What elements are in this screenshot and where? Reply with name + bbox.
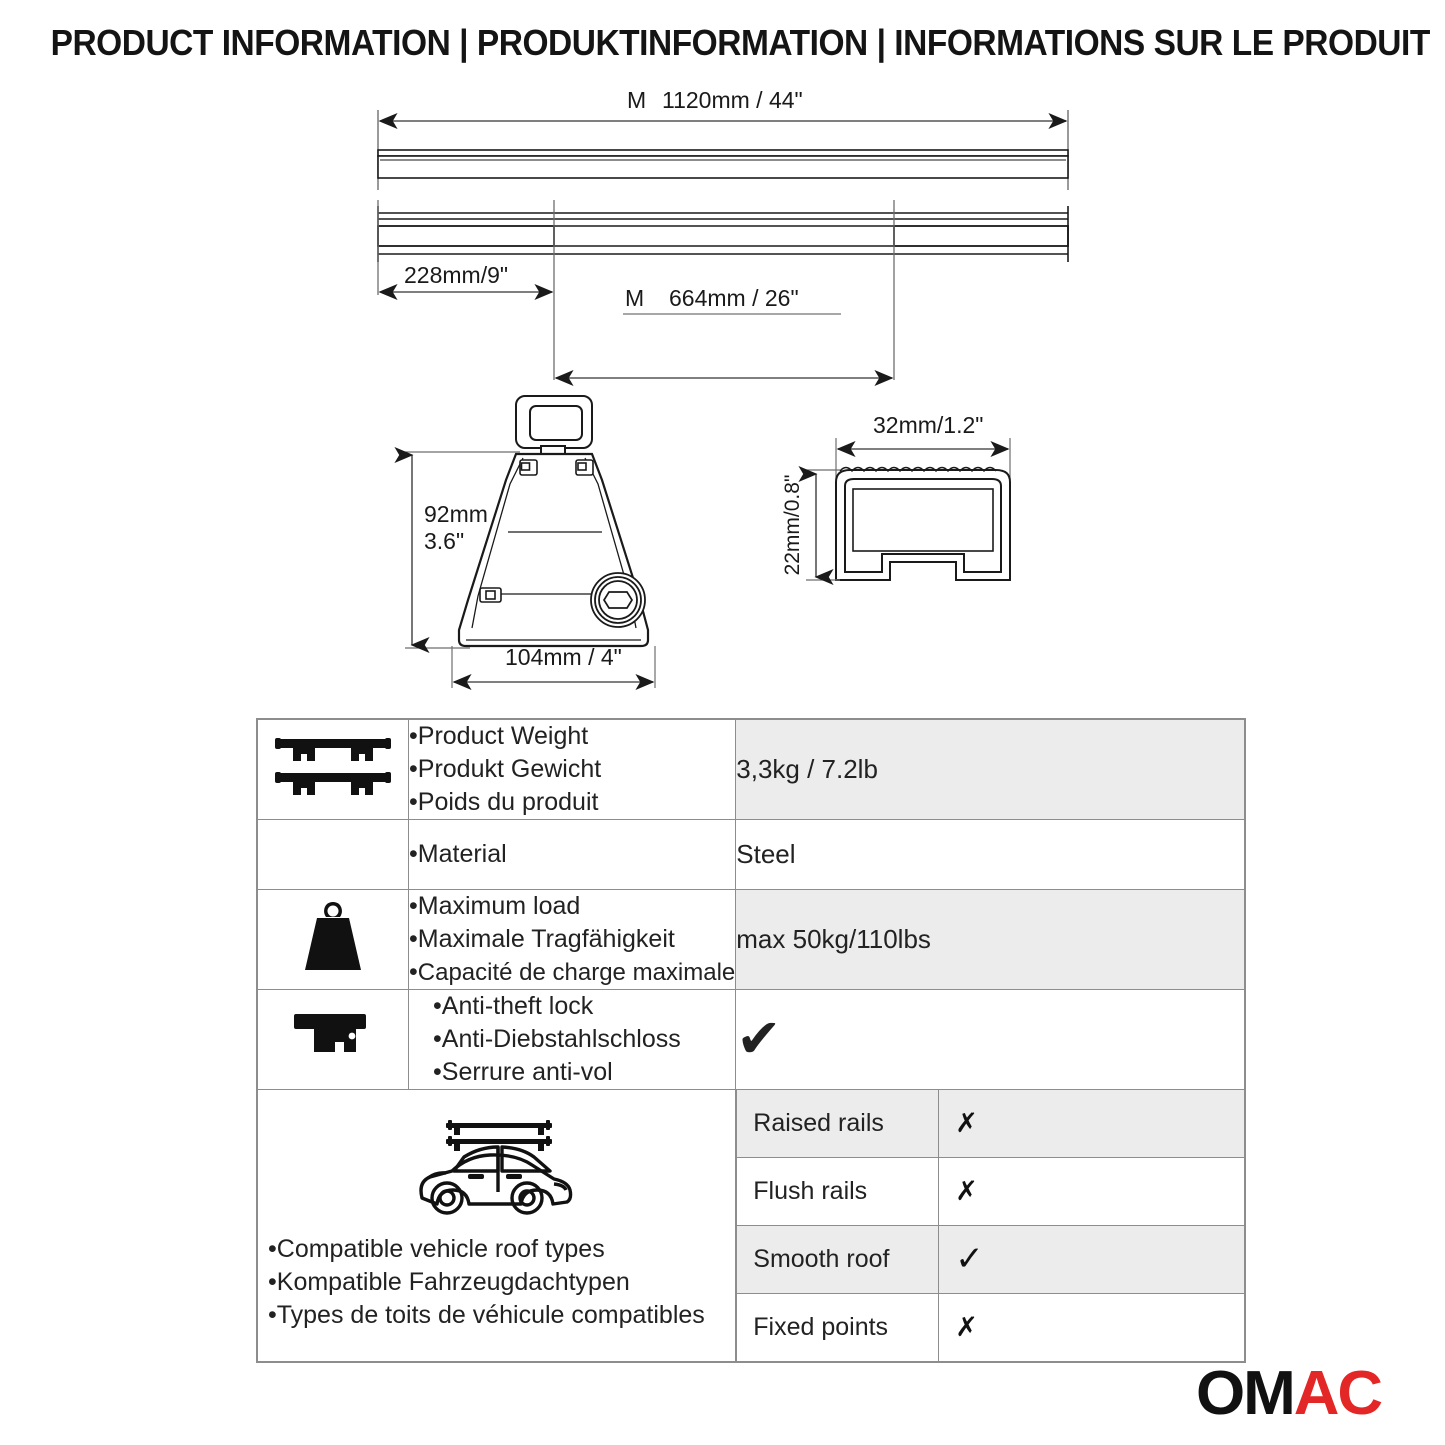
- page-title: PRODUCT INFORMATION | PRODUKTINFORMATION…: [51, 22, 1395, 64]
- lock-icon: [288, 1053, 378, 1070]
- roof-type-mark: ✗: [939, 1294, 1244, 1362]
- logo-text-accent: AC: [1294, 1359, 1381, 1428]
- technical-drawing: M 1120mm / 44" 228mm/9" M 664mm / 26": [0, 80, 1445, 710]
- weight-icon-cell: [257, 890, 409, 990]
- list-item: Fixed points ✗: [737, 1294, 1244, 1362]
- dim-span-value: 664mm / 26": [669, 285, 799, 311]
- roof-type-name: Fixed points: [737, 1294, 939, 1362]
- check-icon: ✔: [736, 1009, 781, 1069]
- material-icon-cell: [257, 820, 409, 890]
- label-text: Capacité de charge maximale: [418, 959, 736, 986]
- list-item: Smooth roof ✓: [737, 1226, 1244, 1294]
- table-row: •Material Steel: [257, 820, 1245, 890]
- cross-icon: ✗: [955, 1312, 978, 1342]
- roof-type-name: Smooth roof: [737, 1226, 939, 1294]
- label-text: Produkt Gewicht: [418, 755, 601, 783]
- cross-icon: ✗: [955, 1108, 978, 1138]
- list-item: Flush rails ✗: [737, 1158, 1244, 1226]
- label-text: Serrure anti-vol: [442, 1058, 613, 1086]
- label-text: Kompatible Fahrzeugdachtypen: [277, 1268, 630, 1296]
- logo-text-primary: OM: [1196, 1359, 1294, 1428]
- label-cell-max-load: •Maximum load •Maximale Tragfähigkeit •C…: [409, 890, 736, 990]
- label-text: Anti-theft lock: [442, 992, 593, 1020]
- label-text: Maximum load: [418, 892, 581, 920]
- label-text: Types de toits de véhicule compatibles: [277, 1301, 705, 1329]
- roof-type-mark: ✗: [939, 1158, 1244, 1226]
- omac-logo: OMAC: [1196, 1358, 1381, 1429]
- table-row: •Anti-theft lock •Anti-Diebstahlschloss …: [257, 990, 1245, 1090]
- table-row: •Maximum load •Maximale Tragfähigkeit •C…: [257, 890, 1245, 990]
- weight-icon: [297, 961, 369, 978]
- label-text: Maximale Tragfähigkeit: [418, 925, 675, 953]
- label-text: Compatible vehicle roof types: [277, 1235, 605, 1263]
- table-row: •Compatible vehicle roof types •Kompatib…: [257, 1090, 1245, 1363]
- dim-foot-width-value: 104mm / 4": [505, 644, 622, 670]
- dim-profile-height-value: 22mm/0.8": [781, 475, 804, 576]
- dim-span-prefix: M: [625, 285, 644, 311]
- crossbars-icon-cell: [257, 719, 409, 820]
- dim-bar-length-prefix: M: [627, 87, 646, 113]
- value-product-weight: 3,3kg / 7.2lb: [736, 719, 1245, 820]
- list-item: Raised rails ✗: [737, 1090, 1244, 1158]
- value-material: Steel: [736, 820, 1245, 890]
- dim-foot-offset-value: 228mm/9": [404, 262, 508, 288]
- roof-type-mark: ✗: [939, 1090, 1244, 1158]
- dim-foot-height-line2: 3.6": [424, 528, 464, 554]
- roof-type-name: Raised rails: [737, 1090, 939, 1158]
- table-row: •Product Weight •Produkt Gewicht •Poids …: [257, 719, 1245, 820]
- cross-icon: ✗: [955, 1176, 978, 1206]
- label-text: Material: [418, 840, 507, 868]
- dim-profile-width-value: 32mm/1.2": [873, 412, 983, 438]
- roof-type-name: Flush rails: [737, 1158, 939, 1226]
- lock-icon-cell: [257, 990, 409, 1090]
- roof-types-values-cell: Raised rails ✗ Flush rails ✗ Smooth roof…: [736, 1090, 1245, 1363]
- label-cell-anti-theft: •Anti-theft lock •Anti-Diebstahlschloss …: [409, 990, 736, 1090]
- car-with-rack-icon: [268, 1114, 725, 1231]
- dim-bar-length-value: 1120mm / 44": [662, 87, 803, 113]
- roof-type-mark: ✓: [939, 1226, 1244, 1294]
- spec-table: •Product Weight •Produkt Gewicht •Poids …: [256, 718, 1246, 1363]
- value-anti-theft: ✔: [736, 990, 1245, 1090]
- dim-foot-height-line1: 92mm: [424, 501, 488, 527]
- crossbars-icon: [273, 790, 393, 807]
- label-text: Product Weight: [418, 722, 588, 750]
- label-cell-product-weight: •Product Weight •Produkt Gewicht •Poids …: [409, 719, 736, 820]
- value-max-load: max 50kg/110lbs: [736, 890, 1245, 990]
- roof-types-label-cell: •Compatible vehicle roof types •Kompatib…: [257, 1090, 736, 1363]
- roof-types-subtable: Raised rails ✗ Flush rails ✗ Smooth roof…: [736, 1090, 1244, 1361]
- label-text: Anti-Diebstahlschloss: [442, 1025, 681, 1053]
- label-text: Poids du produit: [418, 788, 599, 816]
- check-icon: ✓: [955, 1240, 984, 1278]
- label-cell-material: •Material: [409, 820, 736, 890]
